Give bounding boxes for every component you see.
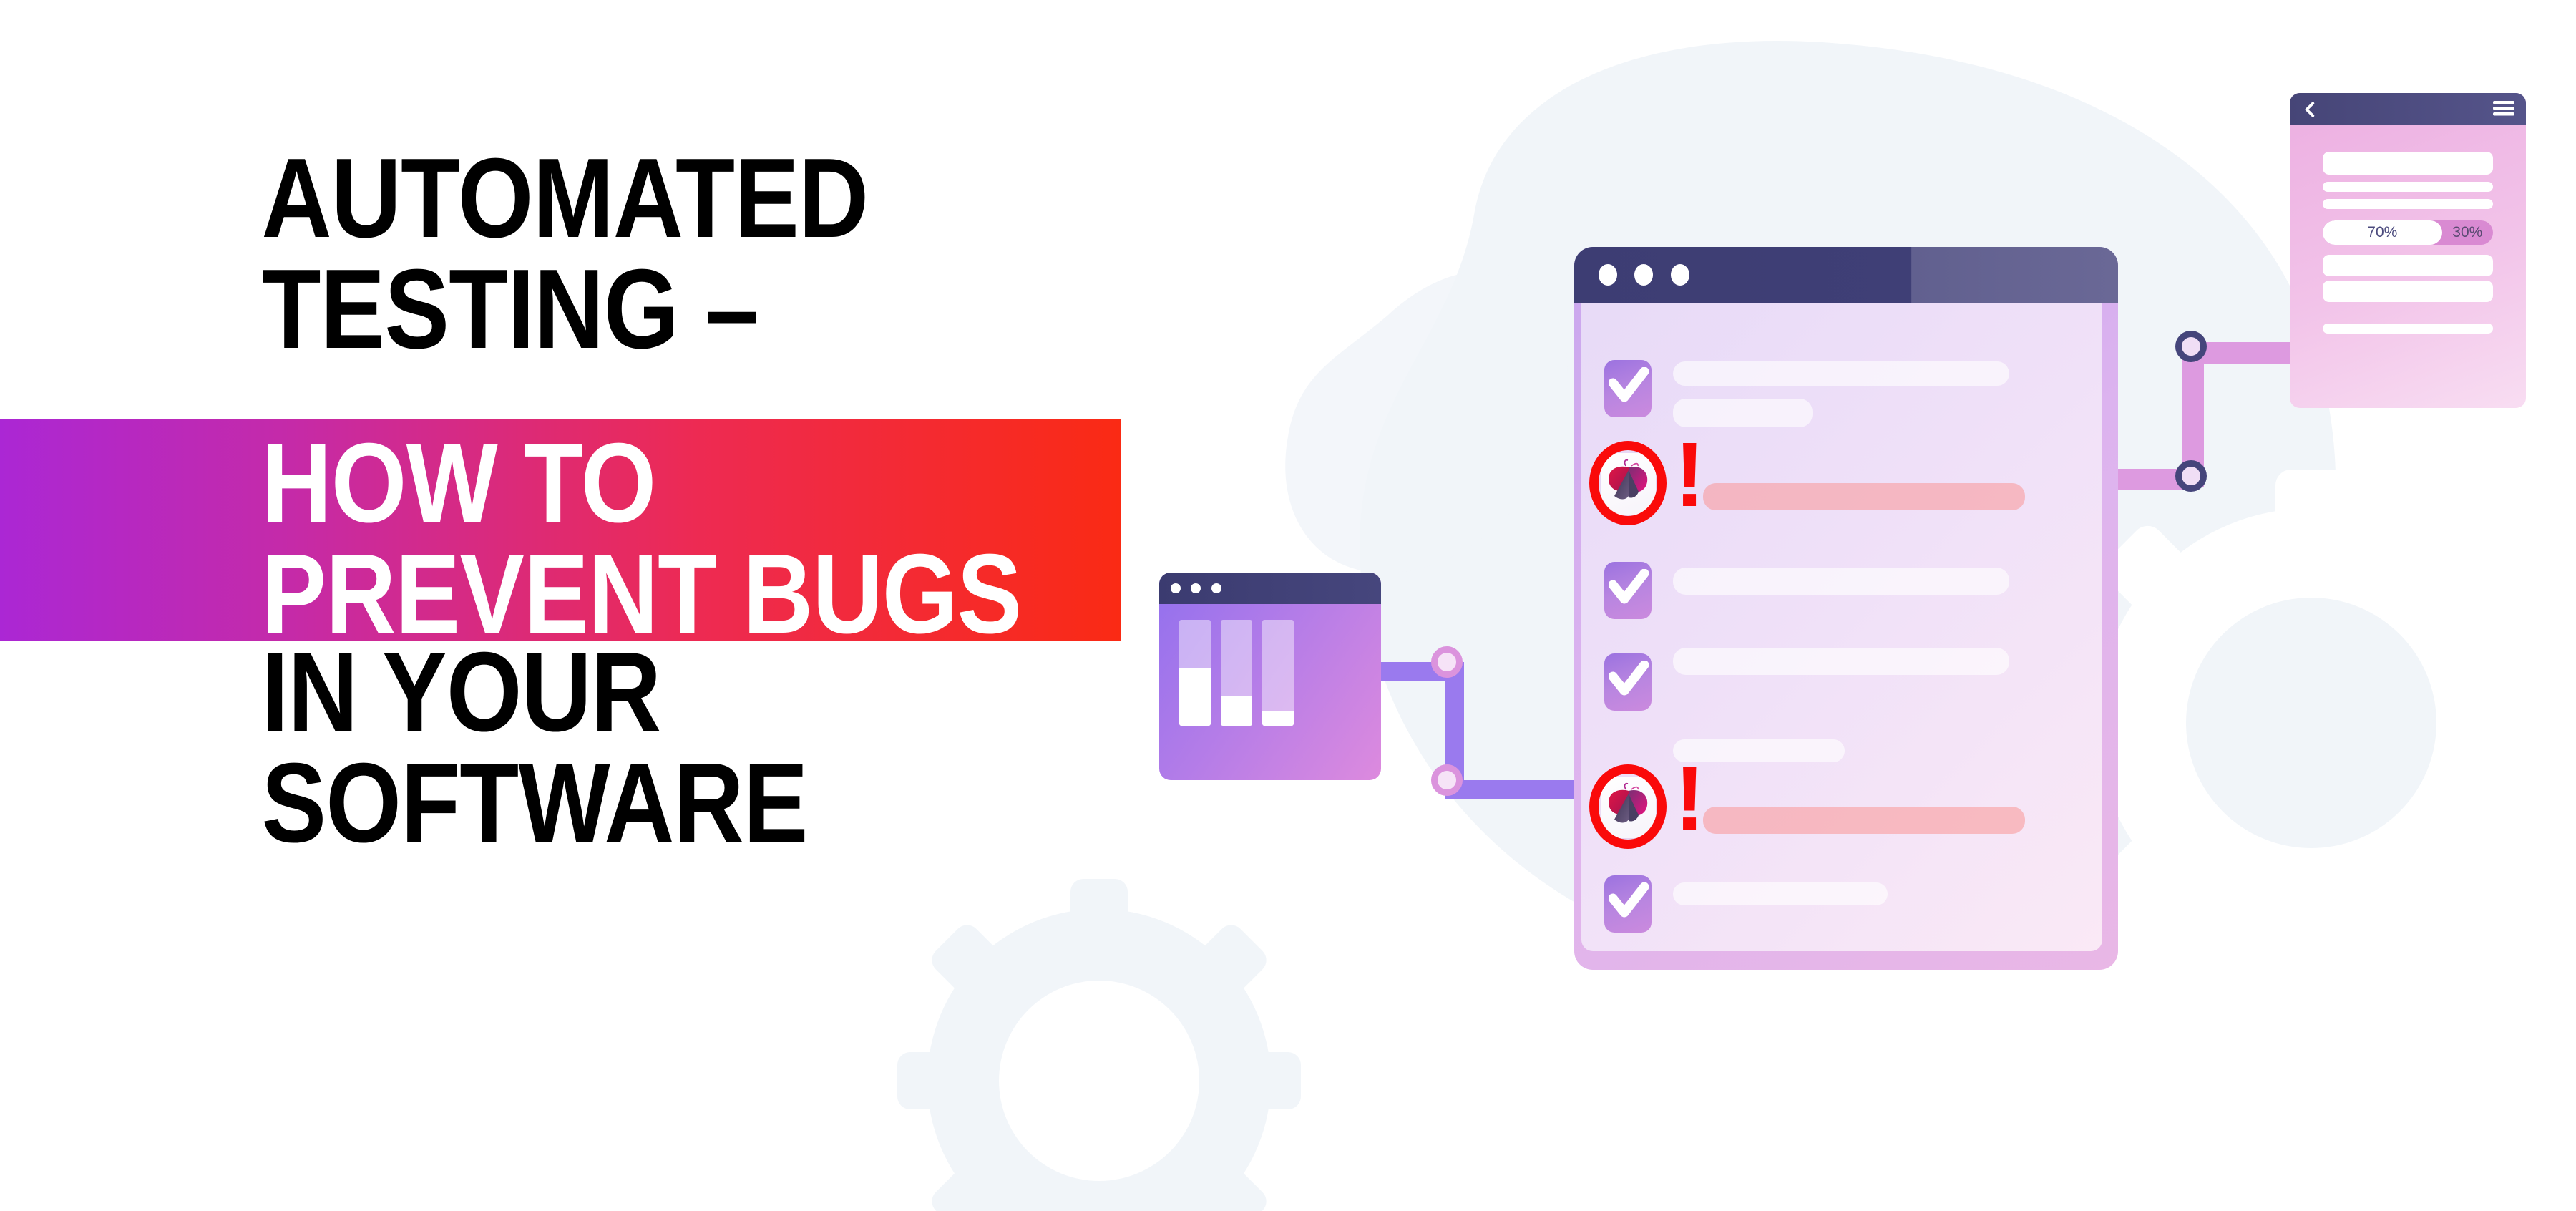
table-row[interactable] xyxy=(1604,875,1652,933)
mobile-window-titlebar xyxy=(2290,93,2526,125)
connector-node-2 xyxy=(1431,764,1463,796)
alert-exclamation-icon: ! xyxy=(1674,444,1705,506)
progress-remaining-label: 30% xyxy=(2442,224,2493,241)
bar-chart xyxy=(1179,620,1294,726)
gear-icon-right xyxy=(2058,470,2565,976)
table-row[interactable] xyxy=(1601,453,1656,515)
connector-line-3 xyxy=(1445,780,1581,799)
main-window-screen xyxy=(1581,254,2102,951)
content-bar-error xyxy=(1703,483,2025,510)
traffic-light-icon[interactable] xyxy=(1599,264,1617,286)
table-row[interactable] xyxy=(1601,777,1656,838)
chart-bar-3 xyxy=(1262,620,1294,726)
traffic-light-icon[interactable] xyxy=(1634,264,1653,286)
headline-highlight-text: HOW TO PREVENT BUGS xyxy=(0,428,1121,650)
page-title: AUTOMATED TESTING – xyxy=(0,143,1216,365)
content-bar-error xyxy=(1703,807,2025,834)
bug-icon xyxy=(1601,453,1656,515)
page-title-tail: IN YOUR SOFTWARE xyxy=(0,637,1216,859)
headline-line-5: IN YOUR xyxy=(0,637,1046,748)
check-icon xyxy=(1604,875,1652,933)
metrics-window-titlebar xyxy=(1159,573,1381,604)
traffic-light-icon[interactable] xyxy=(1171,583,1181,593)
error-ring-icon xyxy=(1589,441,1667,525)
content-bar xyxy=(2323,281,2493,302)
check-icon xyxy=(1604,653,1652,711)
headline-line-2: TESTING – xyxy=(0,254,1046,365)
main-window-titlebar xyxy=(1574,247,2118,303)
table-row[interactable] xyxy=(1604,653,1652,711)
table-row[interactable] xyxy=(1604,562,1652,619)
connector-node-1 xyxy=(1431,646,1463,678)
content-bar xyxy=(1673,568,2009,595)
table-row[interactable] xyxy=(1604,360,1652,417)
check-icon xyxy=(1604,360,1652,417)
traffic-light-icon[interactable] xyxy=(1191,583,1201,593)
progress-bar: 70% 30% xyxy=(2323,220,2493,245)
content-bar xyxy=(2323,182,2493,192)
gear-icon-left xyxy=(897,879,1301,1211)
connector-node-3 xyxy=(2175,331,2207,362)
mobile-report-window[interactable]: 70% 30% xyxy=(2290,93,2526,408)
headline-line-1: AUTOMATED xyxy=(0,143,1046,254)
content-bar xyxy=(1673,882,1888,905)
traffic-light-icon[interactable] xyxy=(1671,264,1689,286)
chevron-left-icon[interactable] xyxy=(2301,100,2320,119)
alert-exclamation-icon: ! xyxy=(1674,768,1705,830)
content-bar xyxy=(1673,361,2009,386)
traffic-light-icon[interactable] xyxy=(1211,583,1221,593)
illustration-stage: AUTOMATED TESTING – HOW TO PREVENT BUGS … xyxy=(0,0,2576,1211)
chart-bar-1 xyxy=(1179,620,1211,726)
error-ring-icon xyxy=(1589,764,1667,849)
headline-line-6: SOFTWARE xyxy=(0,748,1046,859)
progress-filled-label: 70% xyxy=(2323,220,2442,245)
content-bar xyxy=(2323,255,2493,276)
content-bar xyxy=(2323,199,2493,209)
check-icon xyxy=(1604,562,1652,619)
metrics-window[interactable] xyxy=(1159,573,1381,780)
hamburger-menu-icon[interactable] xyxy=(2493,101,2514,117)
headline-line-3: HOW TO xyxy=(0,428,964,539)
chart-bar-2 xyxy=(1221,620,1252,726)
connector-node-4 xyxy=(2175,460,2207,492)
content-bar xyxy=(1673,399,1813,427)
test-results-window[interactable]: ! xyxy=(1574,247,2118,970)
content-bar xyxy=(2323,324,2493,334)
content-bar xyxy=(1673,648,2009,675)
content-bar xyxy=(2323,152,2493,175)
bug-icon xyxy=(1601,777,1656,838)
mobile-window-frame xyxy=(2290,93,2526,408)
